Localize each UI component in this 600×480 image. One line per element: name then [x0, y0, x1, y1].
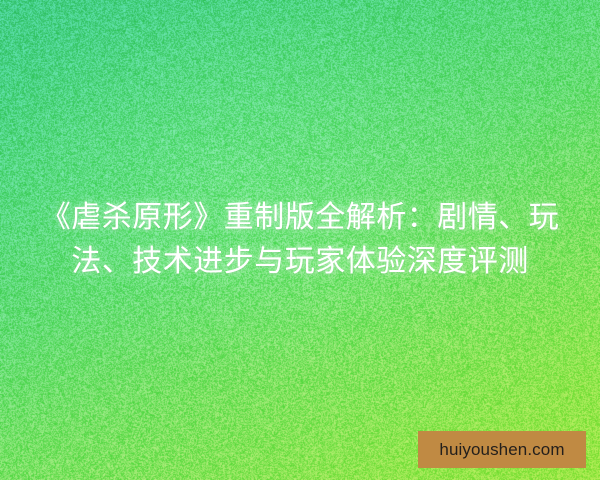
title-container: 《虐杀原形》重制版全解析：剧情、玩法、技术进步与玩家体验深度评测: [0, 196, 600, 284]
banner-title: 《虐杀原形》重制版全解析：剧情、玩法、技术进步与玩家体验深度评测: [28, 196, 572, 284]
article-banner: 《虐杀原形》重制版全解析：剧情、玩法、技术进步与玩家体验深度评测 huiyous…: [0, 0, 600, 480]
watermark-badge: huiyoushen.com: [418, 431, 586, 468]
watermark-text: huiyoushen.com: [439, 441, 564, 458]
